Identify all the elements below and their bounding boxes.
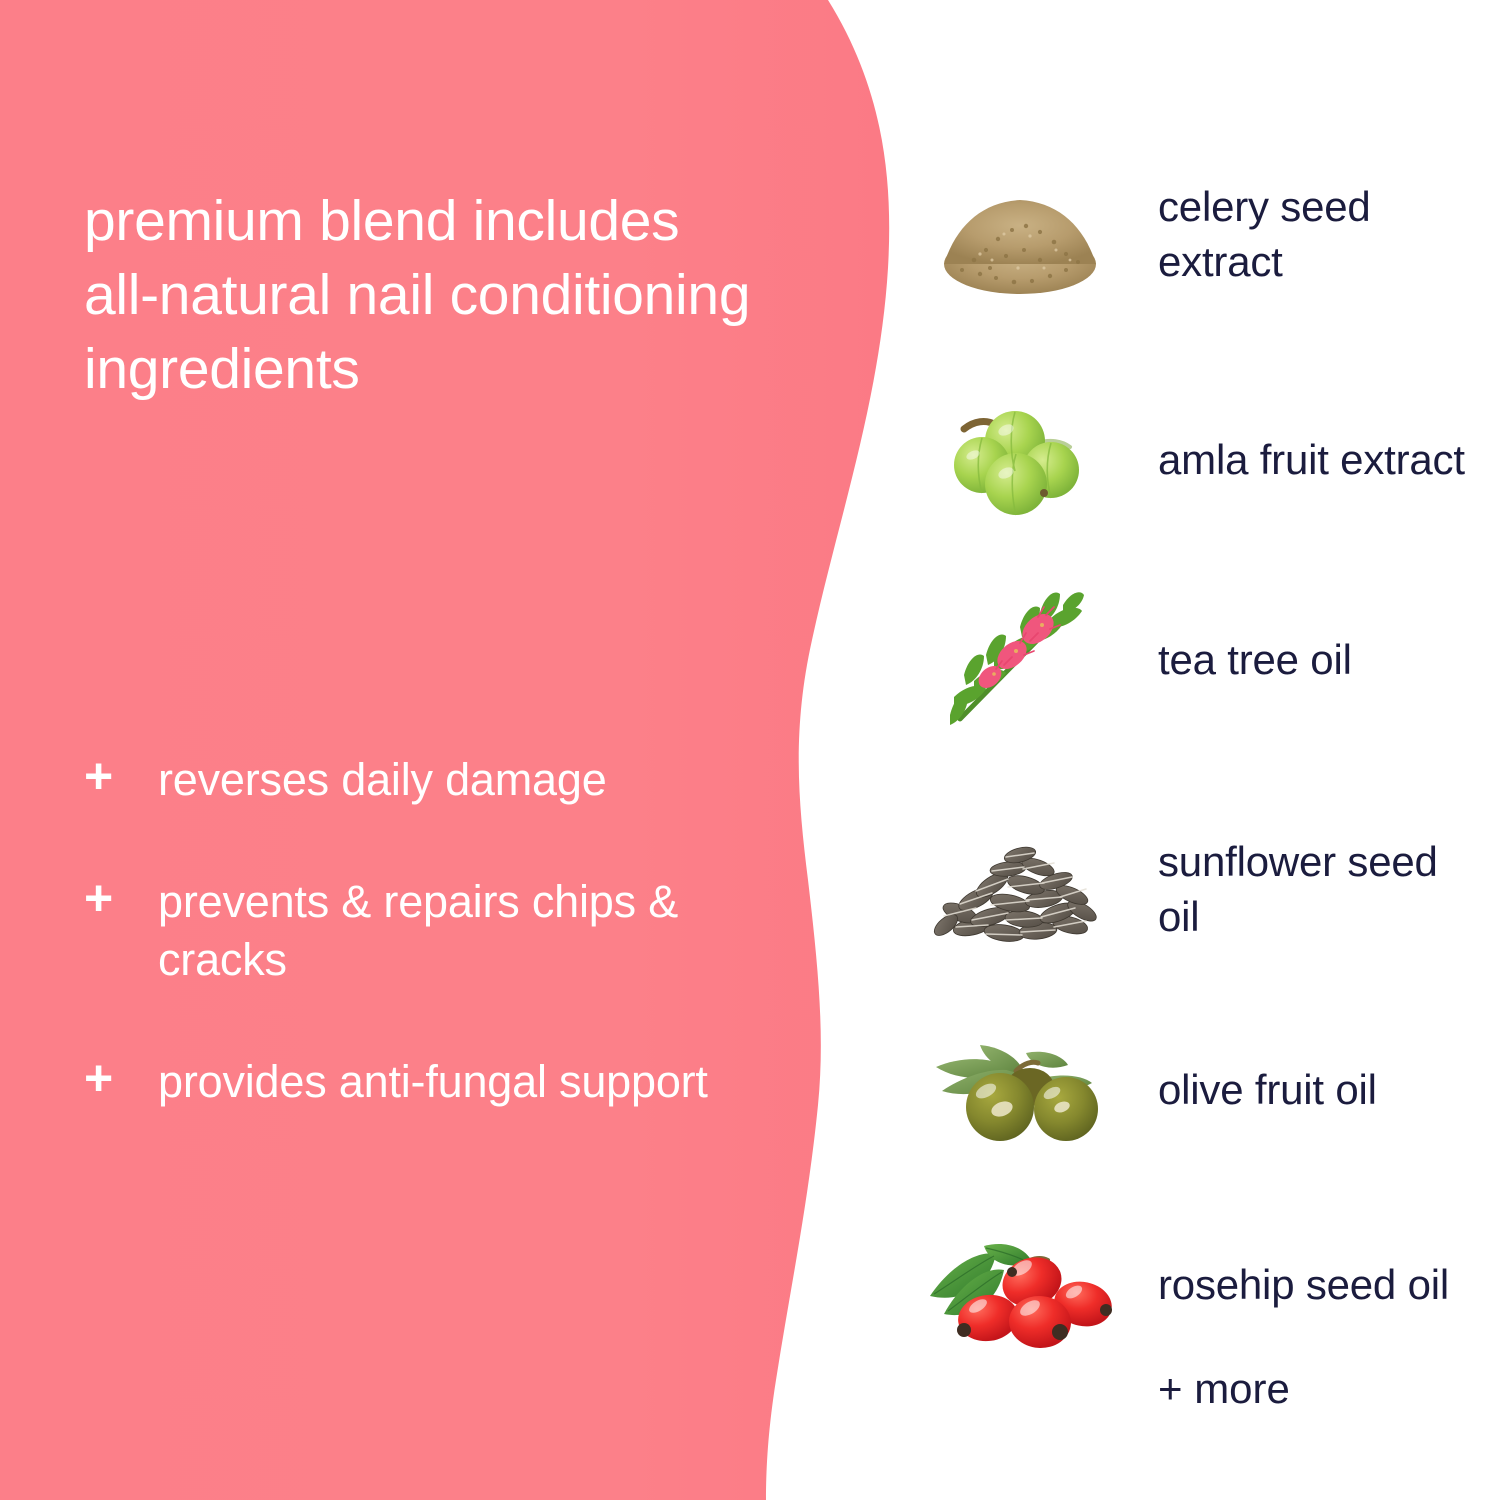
product-feature-panel: premium blend includes all-natural nail … bbox=[0, 0, 1500, 1500]
ingredient-row-tea-tree: tea tree oil bbox=[920, 585, 1480, 735]
ingredient-label: celery seed extract bbox=[1120, 180, 1480, 289]
page-title: premium blend includes all-natural nail … bbox=[84, 184, 764, 406]
plus-icon: + bbox=[84, 1050, 158, 1106]
rosehip-icon bbox=[920, 1210, 1120, 1360]
plus-icon: + bbox=[84, 870, 158, 926]
ingredient-row-olive-fruit: olive fruit oil bbox=[920, 1015, 1480, 1165]
more-ingredients-label: + more bbox=[1158, 1365, 1290, 1413]
ingredient-row-amla-fruit: amla fruit extract bbox=[920, 385, 1480, 535]
amla-fruit-icon bbox=[920, 385, 1120, 535]
ingredient-list: celery seed extract bbox=[920, 150, 1480, 1450]
plus-icon: + bbox=[84, 748, 158, 804]
sunflower-seed-icon bbox=[920, 815, 1120, 965]
tea-tree-sprig-icon bbox=[920, 585, 1120, 735]
ingredient-label: sunflower seed oil bbox=[1120, 835, 1480, 944]
ingredient-label: rosehip seed oil bbox=[1120, 1258, 1480, 1313]
benefit-item-3: + provides anti-fungal support bbox=[84, 1050, 764, 1112]
benefit-label: reverses daily damage bbox=[158, 748, 764, 810]
ingredient-row-rosehip: rosehip seed oil bbox=[920, 1210, 1480, 1360]
ingredient-label: tea tree oil bbox=[1120, 633, 1480, 688]
benefit-label: prevents & repairs chips & cracks bbox=[158, 870, 764, 990]
celery-seed-icon bbox=[920, 160, 1120, 310]
benefit-item-1: + reverses daily damage bbox=[84, 748, 764, 810]
benefits-list: + reverses daily damage + prevents & rep… bbox=[84, 748, 764, 1111]
benefit-label: provides anti-fungal support bbox=[158, 1050, 764, 1112]
ingredient-row-celery-seed: celery seed extract bbox=[920, 160, 1480, 310]
ingredient-label: olive fruit oil bbox=[1120, 1063, 1480, 1118]
olive-fruit-icon bbox=[920, 1015, 1120, 1165]
benefit-item-2: + prevents & repairs chips & cracks bbox=[84, 870, 764, 990]
ingredient-row-sunflower-seed: sunflower seed oil bbox=[920, 815, 1480, 965]
ingredient-label: amla fruit extract bbox=[1120, 433, 1480, 488]
left-copy-column: premium blend includes all-natural nail … bbox=[0, 0, 780, 1500]
